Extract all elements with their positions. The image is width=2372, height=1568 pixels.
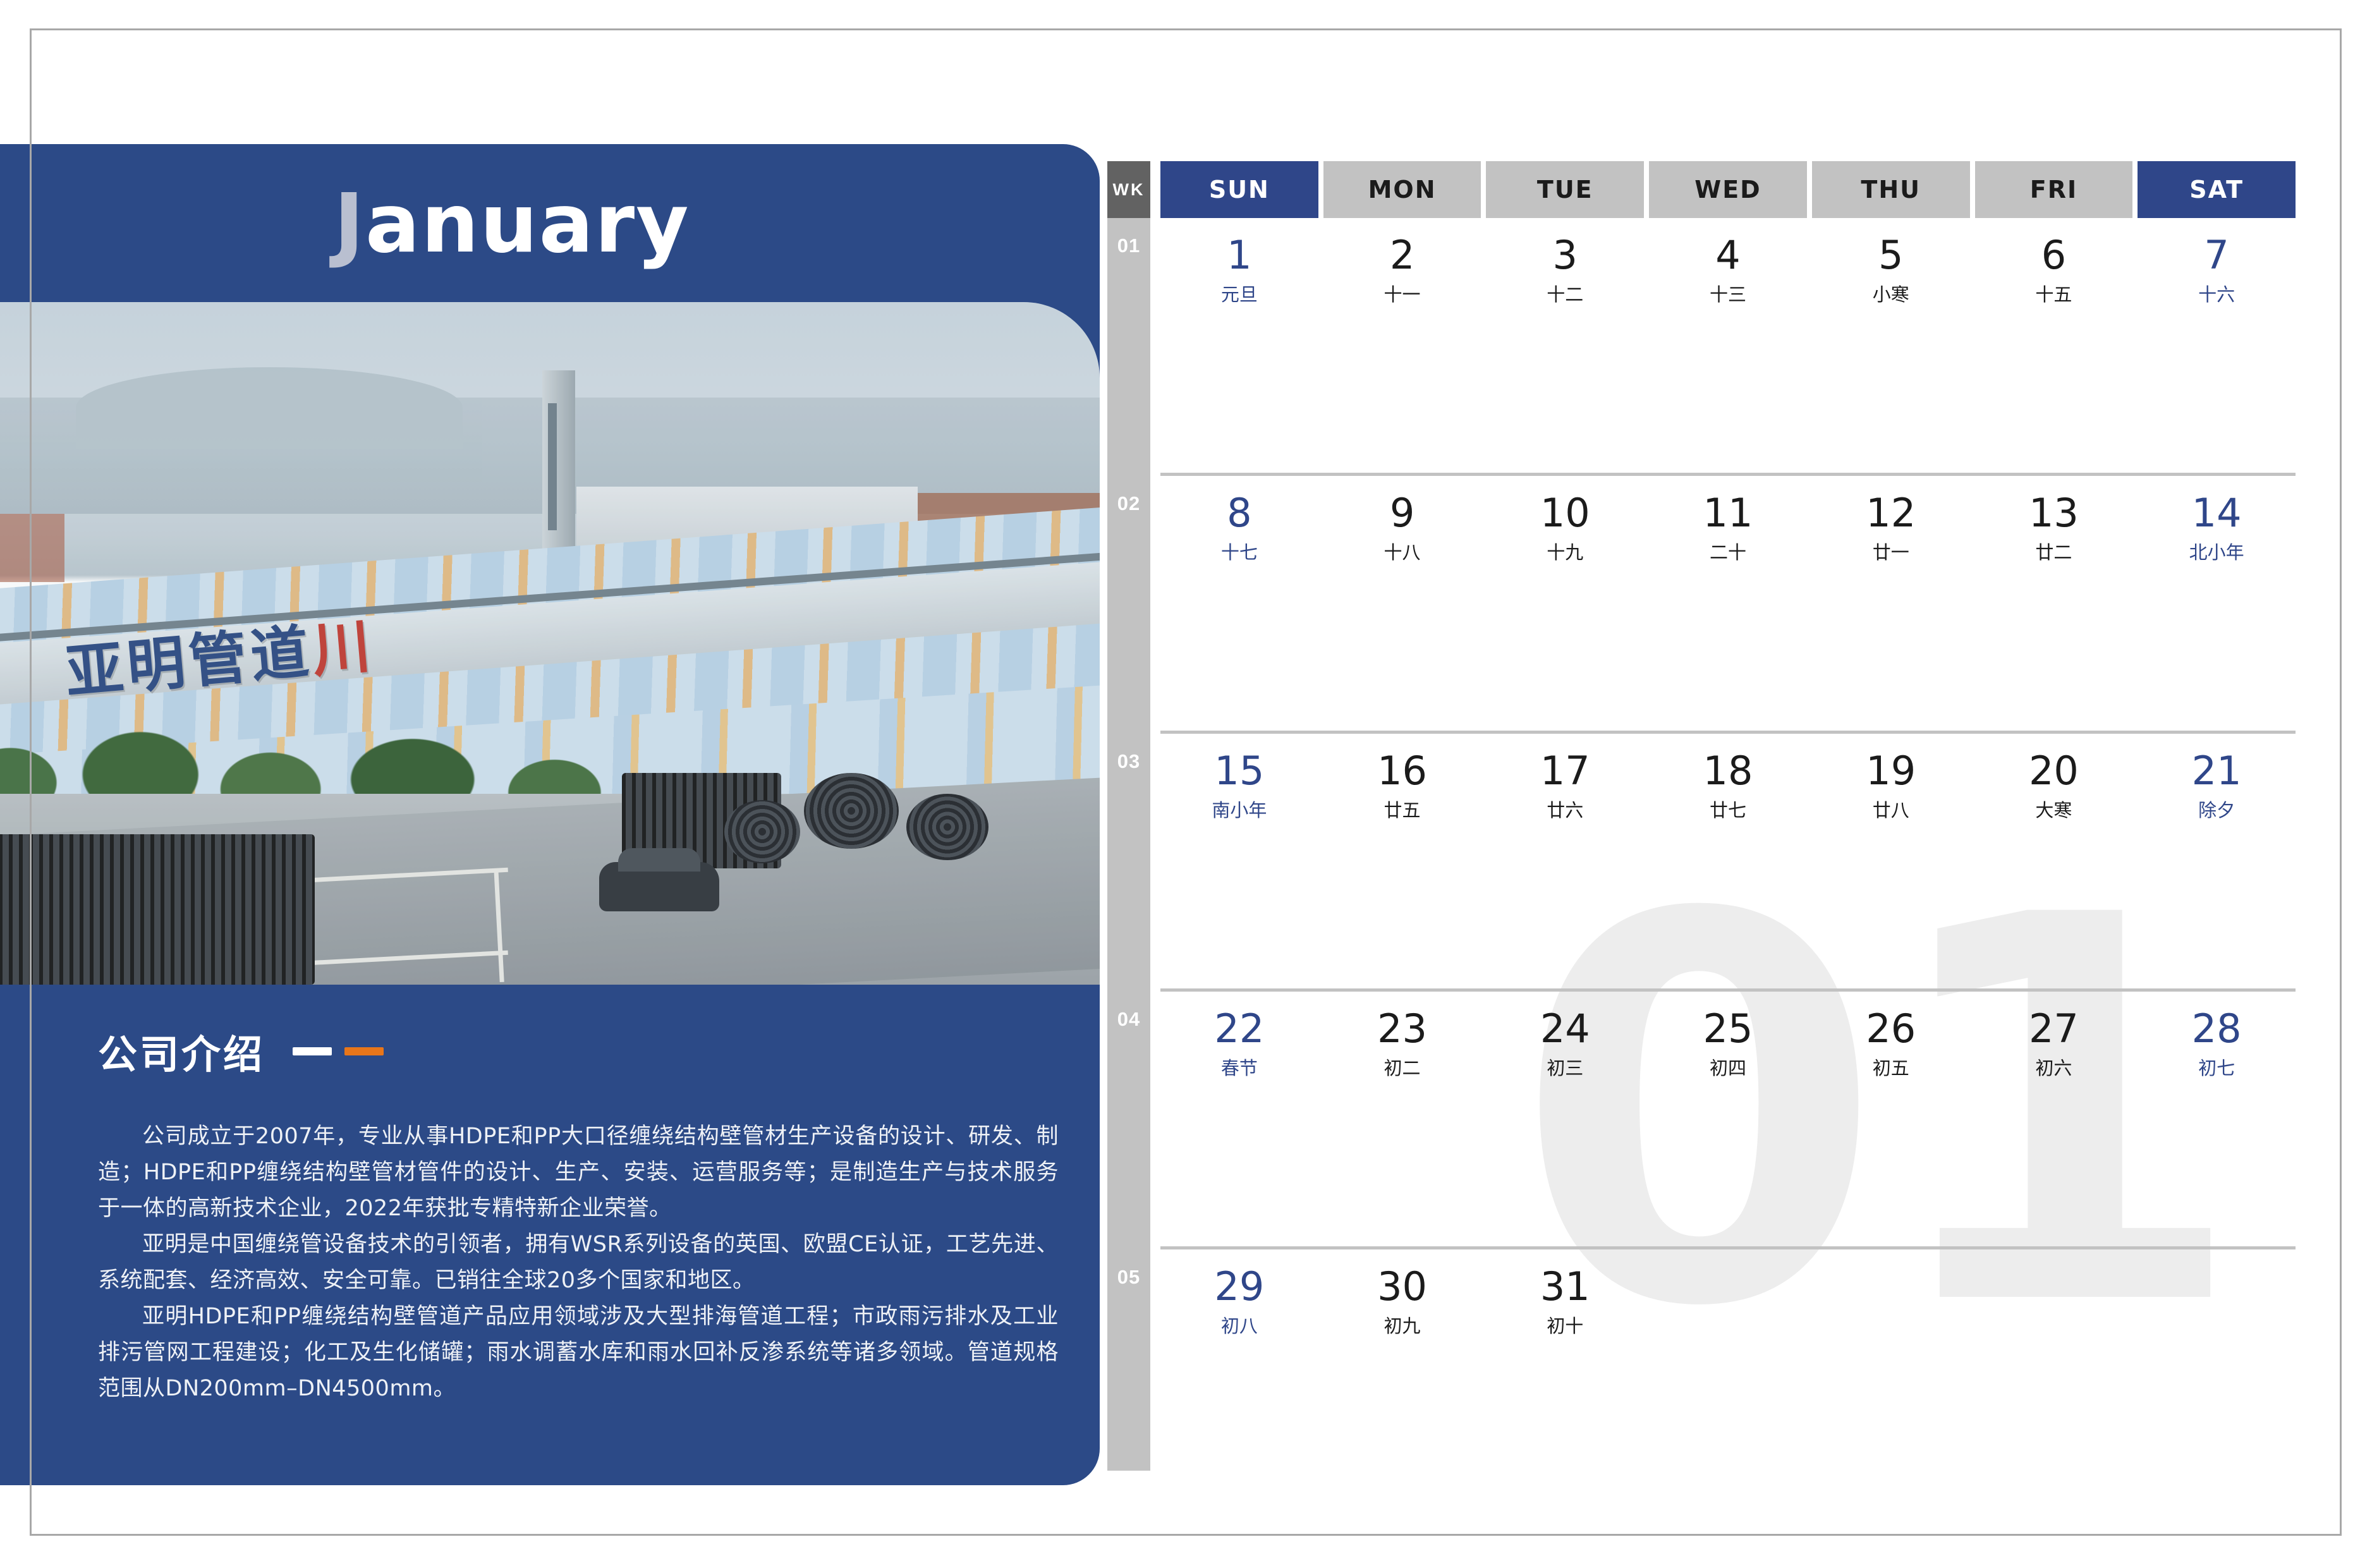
day-number: 19 <box>1812 751 1970 791</box>
day-cell[interactable]: 12廿一 <box>1812 476 1970 731</box>
day-number: 16 <box>1323 751 1481 791</box>
day-number: 5 <box>1812 236 1970 275</box>
lunar-label: 元旦 <box>1160 280 1318 307</box>
day-number: 28 <box>2138 1009 2296 1048</box>
day-cell[interactable]: 18廿七 <box>1649 734 1807 988</box>
lunar-label: 廿二 <box>1975 538 2133 564</box>
day-cell[interactable]: 28初七 <box>2138 992 2296 1246</box>
day-number: 25 <box>1649 1009 1807 1048</box>
lunar-label: 廿一 <box>1812 538 1970 564</box>
days-grid: 01 SUN MON TUE WED THU FRI SAT 1元旦2十一3十二… <box>1160 161 2296 1471</box>
week-number-column: WK 01 02 03 04 05 <box>1107 161 1150 1471</box>
week-row: 22春节23初二24初三25初四26初五27初六28初七 <box>1160 992 2296 1249</box>
day-cell[interactable]: 20大寒 <box>1975 734 2133 988</box>
intro-title-row: 公司介绍 <box>98 1023 1059 1079</box>
lunar-label: 二十 <box>1649 538 1807 564</box>
lunar-label: 初七 <box>2138 1054 2296 1080</box>
week-rows: 1元旦2十一3十二4十三5小寒6十五7十六8十七9十八10十九11二十12廿一1… <box>1160 218 2296 1471</box>
day-number: 12 <box>1812 494 1970 533</box>
lunar-label: 十一 <box>1323 280 1481 307</box>
lunar-label: 初十 <box>1486 1311 1644 1338</box>
day-number: 7 <box>2138 236 2296 275</box>
day-number: 30 <box>1323 1267 1481 1306</box>
day-cell[interactable]: 19廿八 <box>1812 734 1970 988</box>
day-number: 11 <box>1649 494 1807 533</box>
lunar-label: 北小年 <box>2138 538 2296 564</box>
day-cell[interactable]: 9十八 <box>1323 476 1481 731</box>
day-cell[interactable]: 15南小年 <box>1160 734 1318 988</box>
day-cell[interactable]: 5小寒 <box>1812 218 1970 473</box>
lunar-label: 十三 <box>1649 280 1807 307</box>
month-title-rest: anuary <box>365 177 690 271</box>
month-title-capital: J <box>334 177 365 271</box>
day-number: 17 <box>1486 751 1644 791</box>
lunar-label: 初三 <box>1486 1054 1644 1080</box>
month-title-block: January <box>0 144 1062 302</box>
week-number: 04 <box>1107 992 1150 1249</box>
day-number: 27 <box>1975 1009 2133 1048</box>
lunar-label: 廿六 <box>1486 796 1644 822</box>
day-cell[interactable]: 13廿二 <box>1975 476 2133 731</box>
photo-tint-overlay <box>0 302 1100 985</box>
day-cell[interactable]: 4十三 <box>1649 218 1807 473</box>
day-cell[interactable]: 1元旦 <box>1160 218 1318 473</box>
day-number: 21 <box>2138 751 2296 791</box>
day-number: 18 <box>1649 751 1807 791</box>
calendar-page: January 亚明管道川 公司介绍 <box>0 0 2372 1568</box>
day-cell[interactable]: 25初四 <box>1649 992 1807 1246</box>
day-number: 2 <box>1323 236 1481 275</box>
day-cell[interactable]: 14北小年 <box>2138 476 2296 731</box>
day-cell[interactable]: 8十七 <box>1160 476 1318 731</box>
day-number: 29 <box>1160 1267 1318 1306</box>
dow-fri[interactable]: FRI <box>1975 161 2133 218</box>
day-of-week-header: SUN MON TUE WED THU FRI SAT <box>1160 161 2296 218</box>
dow-thu[interactable]: THU <box>1812 161 1970 218</box>
lunar-label: 十五 <box>1975 280 2133 307</box>
day-cell[interactable]: 17廿六 <box>1486 734 1644 988</box>
day-cell[interactable]: 10十九 <box>1486 476 1644 731</box>
day-number: 13 <box>1975 494 2133 533</box>
day-number: 15 <box>1160 751 1318 791</box>
day-number: 10 <box>1486 494 1644 533</box>
day-cell[interactable]: 7十六 <box>2138 218 2296 473</box>
dow-mon[interactable]: MON <box>1323 161 1481 218</box>
lunar-label: 廿七 <box>1649 796 1807 822</box>
lunar-label: 初六 <box>1975 1054 2133 1080</box>
lunar-label: 小寒 <box>1812 280 1970 307</box>
day-number: 26 <box>1812 1009 1970 1048</box>
dow-sun[interactable]: SUN <box>1160 161 1318 218</box>
week-number: 02 <box>1107 476 1150 734</box>
factory-photo: 亚明管道川 <box>0 302 1100 985</box>
intro-rule-orange <box>344 1047 384 1055</box>
day-number: 9 <box>1323 494 1481 533</box>
day-number: 31 <box>1486 1267 1644 1306</box>
lunar-label: 十六 <box>2138 280 2296 307</box>
day-cell[interactable]: 29初八 <box>1160 1249 1318 1471</box>
day-cell[interactable]: 6十五 <box>1975 218 2133 473</box>
wk-header: WK <box>1107 161 1150 218</box>
lunar-label: 廿五 <box>1323 796 1481 822</box>
day-cell[interactable]: 26初五 <box>1812 992 1970 1246</box>
day-number: 23 <box>1323 1009 1481 1048</box>
week-number: 05 <box>1107 1249 1150 1471</box>
week-row: 29初八30初九31初十 <box>1160 1249 2296 1471</box>
week-row: 8十七9十八10十九11二十12廿一13廿二14北小年 <box>1160 476 2296 734</box>
lunar-label: 除夕 <box>2138 796 2296 822</box>
day-number: 24 <box>1486 1009 1644 1048</box>
lunar-label: 初九 <box>1323 1311 1481 1338</box>
lunar-label: 初五 <box>1812 1054 1970 1080</box>
day-number: 22 <box>1160 1009 1318 1048</box>
day-cell[interactable]: 27初六 <box>1975 992 2133 1246</box>
lunar-label: 十二 <box>1486 280 1644 307</box>
lunar-label: 初八 <box>1160 1311 1318 1338</box>
intro-paragraph: 亚明HDPE和PP缠绕结构壁管道产品应用领域涉及大型排海管道工程；市政雨污排水及… <box>98 1299 1059 1407</box>
day-cell[interactable]: 23初二 <box>1323 992 1481 1246</box>
lunar-label: 十七 <box>1160 538 1318 564</box>
dow-wed[interactable]: WED <box>1649 161 1807 218</box>
lunar-label: 初二 <box>1323 1054 1481 1080</box>
wk-body: 01 02 03 04 05 <box>1107 218 1150 1471</box>
intro-paragraph: 亚明是中国缠绕管设备技术的引领者，拥有WSR系列设备的英国、欧盟CE认证，工艺先… <box>98 1227 1059 1299</box>
day-cell[interactable]: 30初九 <box>1323 1249 1481 1471</box>
day-number: 1 <box>1160 236 1318 275</box>
day-cell[interactable]: 21除夕 <box>2138 734 2296 988</box>
intro-title-text: 公司介绍 <box>98 1023 265 1079</box>
company-intro-block: 公司介绍 公司成立于2007年，专业从事HDPE和PP大口径缠绕结构壁管材生产设… <box>98 1023 1059 1407</box>
lunar-label: 廿八 <box>1812 796 1970 822</box>
dow-sat[interactable]: SAT <box>2138 161 2296 218</box>
day-cell[interactable]: 31初十 <box>1486 1249 1644 1471</box>
intro-rule-white <box>293 1047 332 1055</box>
lunar-label: 大寒 <box>1975 796 2133 822</box>
day-cell[interactable]: 2十一 <box>1323 218 1481 473</box>
day-cell[interactable]: 22春节 <box>1160 992 1318 1246</box>
week-row: 1元旦2十一3十二4十三5小寒6十五7十六 <box>1160 218 2296 476</box>
day-cell[interactable]: 3十二 <box>1486 218 1644 473</box>
day-cell[interactable]: 11二十 <box>1649 476 1807 731</box>
intro-body: 公司成立于2007年，专业从事HDPE和PP大口径缠绕结构壁管材生产设备的设计、… <box>98 1119 1059 1407</box>
dow-tue[interactable]: TUE <box>1486 161 1644 218</box>
day-number: 3 <box>1486 236 1644 275</box>
day-number: 6 <box>1975 236 2133 275</box>
lunar-label: 初四 <box>1649 1054 1807 1080</box>
day-cell[interactable]: 16廿五 <box>1323 734 1481 988</box>
week-number: 03 <box>1107 734 1150 992</box>
day-number: 4 <box>1649 236 1807 275</box>
page-title: January <box>0 177 1062 271</box>
week-row: 15南小年16廿五17廿六18廿七19廿八20大寒21除夕 <box>1160 734 2296 992</box>
day-number: 8 <box>1160 494 1318 533</box>
day-number: 20 <box>1975 751 2133 791</box>
lunar-label: 春节 <box>1160 1054 1318 1080</box>
lunar-label: 十八 <box>1323 538 1481 564</box>
day-cell[interactable]: 24初三 <box>1486 992 1644 1246</box>
lunar-label: 南小年 <box>1160 796 1318 822</box>
day-number: 14 <box>2138 494 2296 533</box>
intro-paragraph: 公司成立于2007年，专业从事HDPE和PP大口径缠绕结构壁管材生产设备的设计、… <box>98 1119 1059 1227</box>
week-number: 01 <box>1107 218 1150 476</box>
lunar-label: 十九 <box>1486 538 1644 564</box>
